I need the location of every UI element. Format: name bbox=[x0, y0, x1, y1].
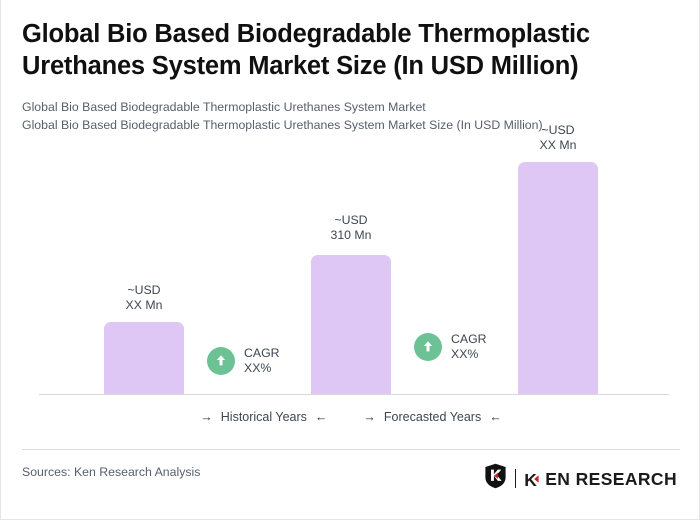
bar-label-3-line2: XX Mn bbox=[498, 138, 618, 153]
ken-research-wordmark: EN RESEARCH bbox=[545, 469, 677, 489]
bar-3[interactable] bbox=[518, 162, 598, 395]
legend-label-historical: Historical Years bbox=[221, 410, 307, 424]
legend-item-historical: → Historical Years ← bbox=[200, 410, 327, 424]
sources-text: Sources: Ken Research Analysis bbox=[22, 465, 200, 479]
cagr-forecast-line2: XX% bbox=[451, 347, 487, 362]
arrow-up-icon bbox=[207, 347, 235, 375]
bar-label-1: ~USD XX Mn bbox=[84, 283, 204, 312]
bar-label-3: ~USD XX Mn bbox=[498, 123, 618, 152]
cagr-historical-line1: CAGR bbox=[244, 346, 280, 361]
x-axis-line bbox=[39, 394, 669, 395]
ken-research-k-mark-icon: K bbox=[531, 471, 540, 487]
legend-item-forecasted: → Forecasted Years ← bbox=[363, 410, 501, 424]
ken-research-shield-icon bbox=[484, 463, 507, 494]
ken-research-logo: K EN RESEARCH bbox=[484, 463, 677, 494]
arrow-up-icon bbox=[414, 333, 442, 361]
arrow-right-icon: → bbox=[363, 410, 376, 424]
arrow-left-icon: ← bbox=[489, 410, 502, 424]
cagr-forecast: CAGR XX% bbox=[414, 332, 487, 361]
cagr-historical-text: CAGR XX% bbox=[244, 346, 280, 375]
chart-legend: → Historical Years ← → Forecasted Years … bbox=[1, 410, 700, 424]
bar-2[interactable] bbox=[311, 255, 391, 395]
cagr-historical: CAGR XX% bbox=[207, 346, 280, 375]
footer-divider bbox=[22, 449, 680, 450]
bar-label-2: ~USD 310 Mn bbox=[291, 213, 411, 242]
bar-label-2-line1: ~USD bbox=[291, 213, 411, 228]
bar-chart-plot: ~USD XX Mn CAGR XX% ~USD 310 Mn bbox=[1, 0, 700, 400]
cagr-historical-line2: XX% bbox=[244, 361, 280, 376]
bar-label-2-line2: 310 Mn bbox=[291, 228, 411, 243]
bar-label-1-line2: XX Mn bbox=[84, 298, 204, 313]
legend-label-forecasted: Forecasted Years bbox=[384, 410, 481, 424]
bar-1[interactable] bbox=[104, 322, 184, 395]
arrow-left-icon: ← bbox=[315, 410, 328, 424]
bar-label-3-line1: ~USD bbox=[498, 123, 618, 138]
bar-label-1-line1: ~USD bbox=[84, 283, 204, 298]
arrow-right-icon: → bbox=[200, 410, 213, 424]
cagr-forecast-line1: CAGR bbox=[451, 332, 487, 347]
cagr-forecast-text: CAGR XX% bbox=[451, 332, 487, 361]
logo-divider bbox=[515, 469, 516, 488]
chart-page: Global Bio Based Biodegradable Thermopla… bbox=[0, 0, 700, 520]
